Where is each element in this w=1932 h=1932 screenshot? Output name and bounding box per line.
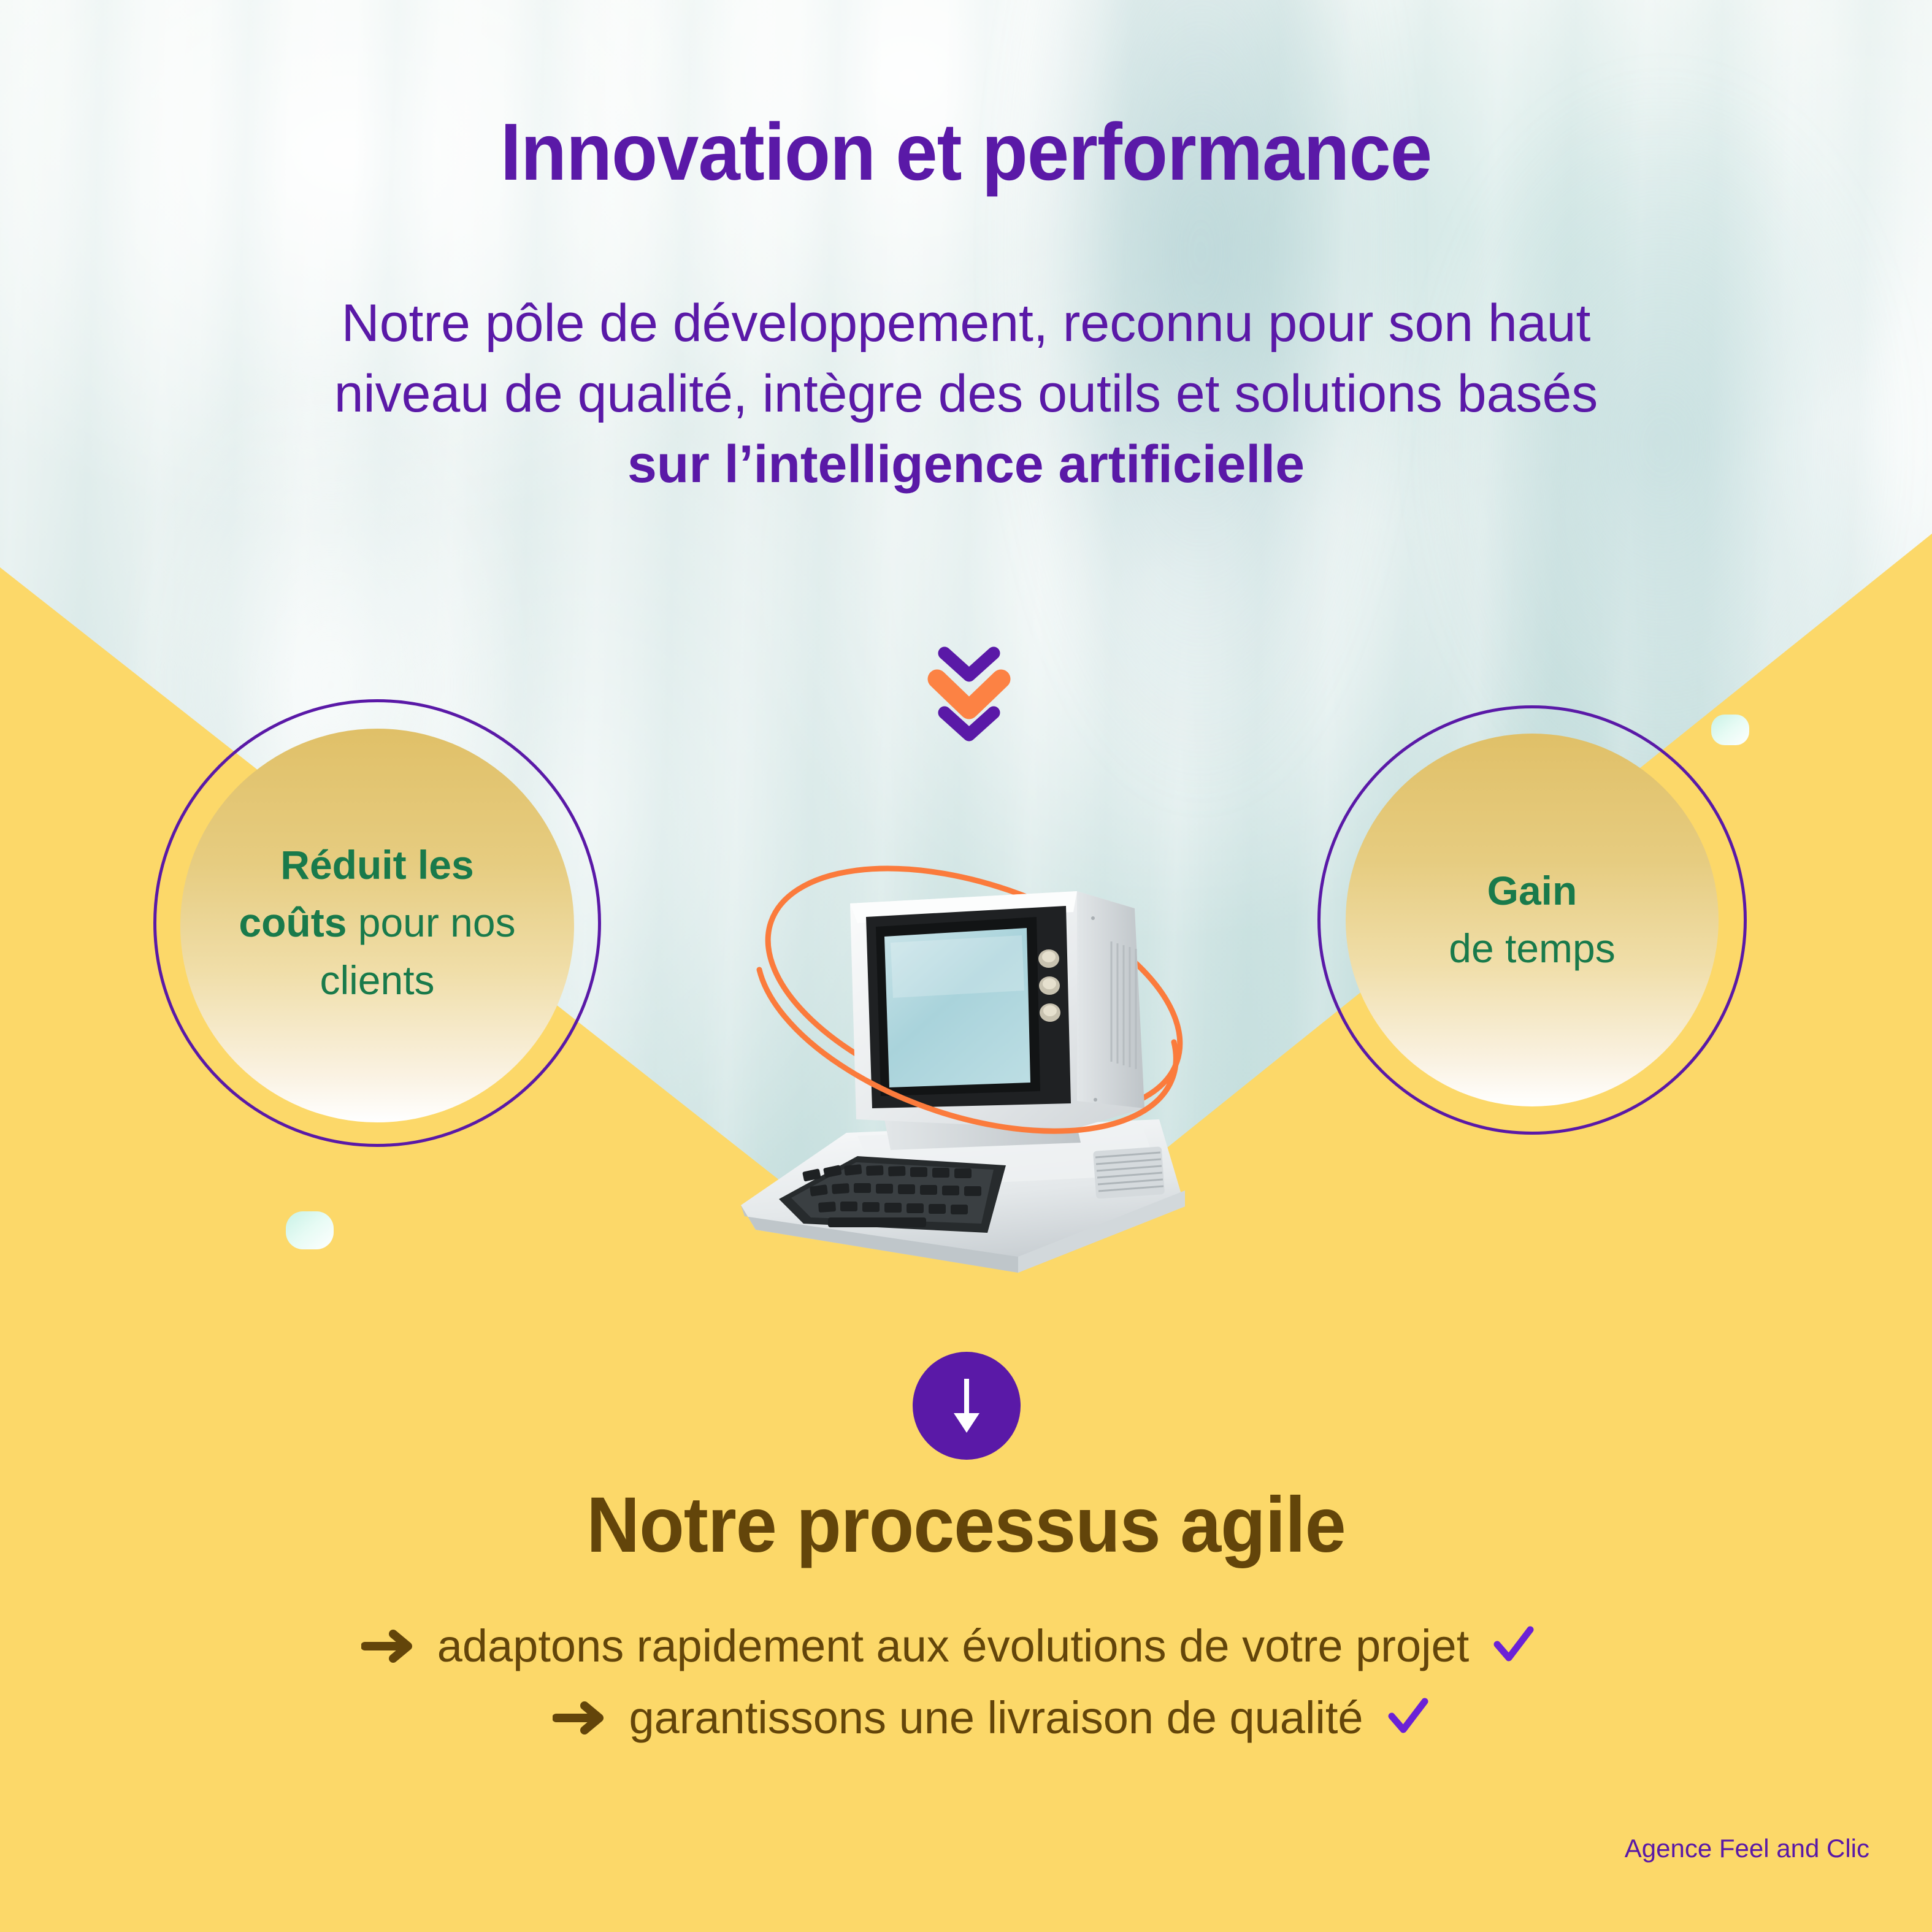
benefit-circle-reduce-costs: Réduit les coûts pour nos clients: [153, 699, 601, 1147]
arrow-right-icon: [361, 1628, 415, 1665]
check-icon: [1386, 1696, 1431, 1739]
retro-computer-illustration: [730, 831, 1214, 1285]
arrow-right-icon: [553, 1700, 607, 1736]
subtitle-line-1: Notre pôle de développement, reconnu pou…: [342, 294, 1591, 353]
scroll-down-badge[interactable]: [913, 1352, 1021, 1460]
brand-credit: Agence Feel and Clic: [1625, 1834, 1869, 1863]
benefit-circle-label: Réduit les coûts pour nos clients: [153, 699, 601, 1147]
benefit-rest-text: de temps: [1449, 920, 1615, 978]
benefit-rest-line-2: pour nos: [358, 900, 516, 945]
benefit-rest-line-3: clients: [320, 957, 434, 1003]
benefit-circle-time-saving: Gain de temps: [1317, 705, 1747, 1135]
process-heading: Notre processus agile: [58, 1484, 1874, 1566]
list-item-label: garantissons une livraison de qualité: [629, 1693, 1363, 1742]
chevron-down-icon-top: [945, 653, 994, 675]
benefit-bold-text: Gain: [1487, 862, 1577, 920]
chevron-down-icon-middle: [937, 679, 1001, 710]
yellow-panel-bottom: [0, 1217, 1932, 1932]
subtitle: Notre pôle de développement, reconnu pou…: [270, 288, 1662, 500]
monitor-knobs: [1038, 949, 1060, 1022]
subtitle-line-2: niveau de qualité, intègre des outils et…: [334, 364, 1598, 423]
infographic-poster: Innovation et performance Notre pôle de …: [0, 0, 1932, 1932]
page-title: Innovation et performance: [67, 109, 1865, 195]
chevron-stack: [920, 641, 1018, 745]
list-item: garantissons une livraison de qualité: [26, 1682, 1932, 1754]
benefit-circle-label: Gain de temps: [1317, 705, 1747, 1135]
mint-accent-left: [286, 1211, 334, 1249]
list-item: adaptons rapidement aux évolutions de vo…: [0, 1610, 1915, 1682]
arrow-down-icon: [948, 1376, 986, 1435]
benefit-bold-line-2: coûts: [239, 900, 347, 945]
check-icon: [1491, 1625, 1536, 1668]
subtitle-emphasis: sur l’intelligence artificielle: [270, 429, 1662, 500]
process-list: adaptons rapidement aux évolutions de vo…: [0, 1610, 1932, 1754]
benefit-bold-line-1: Réduit les: [280, 842, 473, 887]
list-item-label: adaptons rapidement aux évolutions de vo…: [437, 1621, 1470, 1671]
